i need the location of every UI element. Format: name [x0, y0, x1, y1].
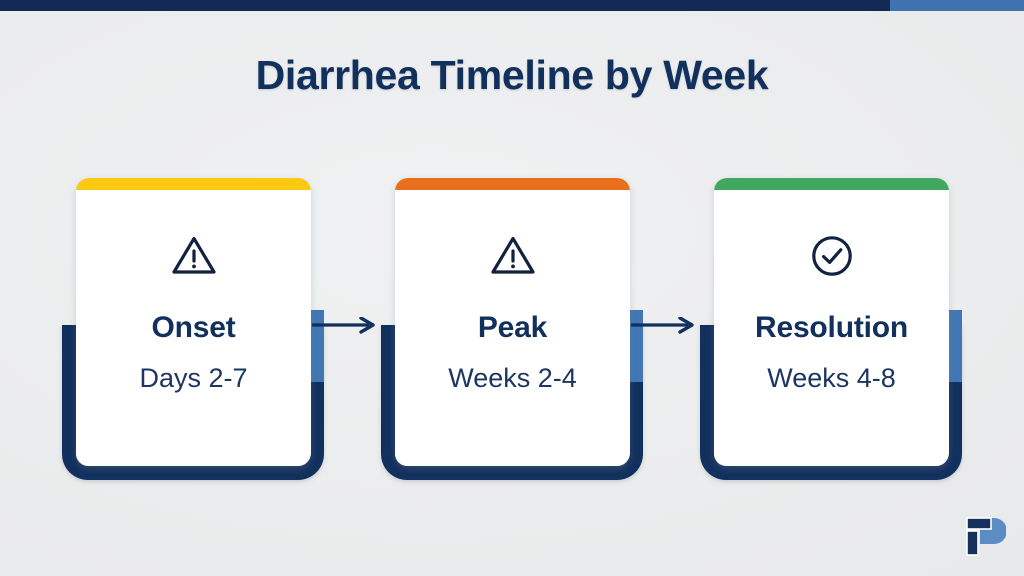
step-riser [948, 310, 962, 382]
step-duration: Weeks 2-4 [395, 363, 630, 394]
step-duration: Days 2-7 [76, 363, 311, 394]
top-accent-bar-dark-segment [0, 0, 890, 11]
step-accent-bar [395, 178, 630, 190]
step-label: Peak [395, 311, 630, 345]
connector-arrow-icon [311, 317, 383, 345]
brand-logo [954, 514, 1006, 562]
connector-arrow-icon [630, 317, 702, 345]
step-card[interactable]: Resolution Weeks 4-8 [714, 178, 949, 466]
page-title: Diarrhea Timeline by Week [0, 52, 1024, 99]
step-accent-bar [76, 178, 311, 190]
step-card[interactable]: Peak Weeks 2-4 [395, 178, 630, 466]
step-label: Resolution [714, 311, 949, 345]
step-accent-bar [714, 178, 949, 190]
check-circle-icon [714, 233, 949, 279]
step-label: Onset [76, 311, 311, 345]
timeline-step-peak[interactable]: Peak Weeks 2-4 [381, 170, 643, 490]
timeline-step-onset[interactable]: Onset Days 2-7 [62, 170, 324, 490]
timeline-stage: Onset Days 2-7 Peak Weeks 2-4 [0, 170, 1024, 500]
top-accent-bar-light-segment [890, 0, 1024, 11]
slide-canvas: Diarrhea Timeline by Week Onset Days 2-7 [0, 0, 1024, 576]
warning-triangle-icon [76, 233, 311, 277]
step-card[interactable]: Onset Days 2-7 [76, 178, 311, 466]
warning-triangle-icon [395, 233, 630, 277]
top-accent-bar [0, 0, 1024, 11]
step-duration: Weeks 4-8 [714, 363, 949, 394]
timeline-step-resolution[interactable]: Resolution Weeks 4-8 [700, 170, 962, 490]
